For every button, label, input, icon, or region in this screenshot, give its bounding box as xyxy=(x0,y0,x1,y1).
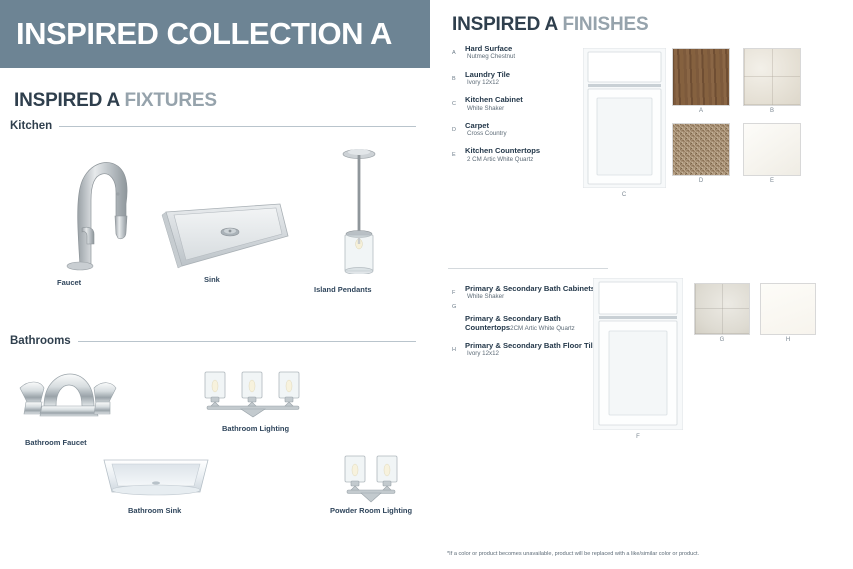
section-rule xyxy=(59,126,416,127)
caption-bathroom-lighting: Bathroom Lighting xyxy=(222,424,289,433)
legend-divider xyxy=(448,268,608,269)
finishes-heading-light: FINISHES xyxy=(562,14,648,35)
finishes-panel: INSPIRED A FINISHES A Hard Surface Nutme… xyxy=(440,0,853,569)
legend-spec: Nutmeg Chestnut xyxy=(465,53,572,61)
kitchen-faucet-icon xyxy=(58,148,144,273)
legend-name: Kitchen Cabinet xyxy=(465,95,572,104)
legend-item: H Primary & Secondary Bath Floor Tile Iv… xyxy=(452,341,602,359)
fixtures-heading-light: FIXTURES xyxy=(124,90,216,111)
swatch-d-carpet xyxy=(672,123,730,176)
caption-powder-room-lighting: Powder Room Lighting xyxy=(330,506,412,515)
fixtures-heading-dark: INSPIRED A xyxy=(14,90,119,111)
legend-item: D Carpet Cross Country xyxy=(452,121,572,139)
legend-spec: 2 CM Artic White Quartz xyxy=(465,156,572,164)
legend-key: D xyxy=(452,127,462,133)
legend-item: E Kitchen Countertops 2 CM Artic White Q… xyxy=(452,146,572,164)
swatch-label-h: H xyxy=(760,337,816,343)
legend-item: C Kitchen Cabinet White Shaker xyxy=(452,95,572,113)
swatch-label-c: C xyxy=(612,192,636,198)
caption-bathroom-sink: Bathroom Sink xyxy=(128,506,181,515)
legend-spec: White Shaker xyxy=(465,105,572,113)
legend-item: G Primary & Secondary Bath Countertops2C… xyxy=(452,314,602,333)
legend-name: Primary & Secondary Bath Floor Tile xyxy=(465,341,602,350)
section-header-kitchen: Kitchen xyxy=(10,120,416,132)
swatch-a-hard-surface xyxy=(672,48,730,106)
swatch-label-g: G xyxy=(694,337,750,343)
legend-spec: Ivory 12x12 xyxy=(465,350,602,358)
swatch-b-laundry-tile xyxy=(743,48,801,106)
swatch-label-f: F xyxy=(626,434,650,440)
kitchen-cabinet-swatch xyxy=(583,48,666,188)
legend-item: B Laundry Tile Ivory 12x12 xyxy=(452,70,572,88)
swatch-g-bath-countertop xyxy=(694,283,750,335)
bath-sink-icon xyxy=(100,452,212,502)
caption-island-pendants: Island Pendants xyxy=(314,285,372,294)
fixtures-heading: INSPIRED A FIXTURES xyxy=(0,68,430,112)
section-header-bathrooms: Bathrooms xyxy=(10,335,416,347)
page-title: INSPIRED COLLECTION A xyxy=(0,16,392,52)
caption-bathroom-faucet: Bathroom Faucet xyxy=(25,438,87,447)
legend-key: B xyxy=(452,76,462,82)
caption-faucet: Faucet xyxy=(57,278,81,287)
powder-light-icon xyxy=(335,452,407,504)
legend-spec: 2CM Artic White Quartz xyxy=(510,325,575,332)
collection-title-bar: INSPIRED COLLECTION A xyxy=(0,0,430,68)
finishes-heading-dark: INSPIRED A xyxy=(452,14,557,35)
swatch-label-a: A xyxy=(672,108,730,114)
legend-name: Primary & Secondary Bath Countertops2CM … xyxy=(465,314,602,333)
legend-spec: Ivory 12x12 xyxy=(465,79,572,87)
swatch-label-d: D xyxy=(672,178,730,184)
section-label-bathrooms: Bathrooms xyxy=(10,335,78,347)
legend-key: H xyxy=(452,347,462,353)
legend-item: A Hard Surface Nutmeg Chestnut xyxy=(452,44,572,62)
disclaimer-text: *If a color or product becomes unavailab… xyxy=(447,551,699,557)
pendant-light-icon xyxy=(330,144,388,274)
legend-key: G xyxy=(452,304,462,310)
legend-name: Hard Surface xyxy=(465,44,572,53)
legend-item: F Primary & Secondary Bath Cabinets Whit… xyxy=(452,284,602,302)
legend-name: Laundry Tile xyxy=(465,70,572,79)
legend-name: Primary & Secondary Bath Cabinets xyxy=(465,284,602,293)
swatch-e-kitchen-countertop xyxy=(743,123,801,176)
fixtures-panel: INSPIRED COLLECTION A INSPIRED A FIXTURE… xyxy=(0,0,430,569)
legend-spec: Cross Country xyxy=(465,130,572,138)
legend-name: Carpet xyxy=(465,121,572,130)
section-label-kitchen: Kitchen xyxy=(10,120,59,132)
legend-key: F xyxy=(452,290,462,296)
vanity-light-icon xyxy=(193,366,311,418)
swatch-label-e: E xyxy=(743,178,801,184)
legend-key: A xyxy=(452,50,462,56)
legend-spec: White Shaker xyxy=(465,293,602,301)
caption-sink: Sink xyxy=(204,275,220,284)
finishes-legend-bottom: F Primary & Secondary Bath Cabinets Whit… xyxy=(452,284,602,366)
finishes-heading: INSPIRED A FINISHES xyxy=(440,0,853,36)
legend-name: Kitchen Countertops xyxy=(465,146,572,155)
swatch-h-bath-floor-tile xyxy=(760,283,816,335)
kitchen-sink-icon xyxy=(152,200,292,272)
bath-faucet-icon xyxy=(6,358,124,426)
swatch-label-b: B xyxy=(743,108,801,114)
legend-key: C xyxy=(452,101,462,107)
bath-cabinet-swatch xyxy=(593,278,683,430)
section-rule xyxy=(78,341,416,342)
legend-key: E xyxy=(452,152,462,158)
finishes-legend-top: A Hard Surface Nutmeg Chestnut B Laundry… xyxy=(452,44,572,172)
